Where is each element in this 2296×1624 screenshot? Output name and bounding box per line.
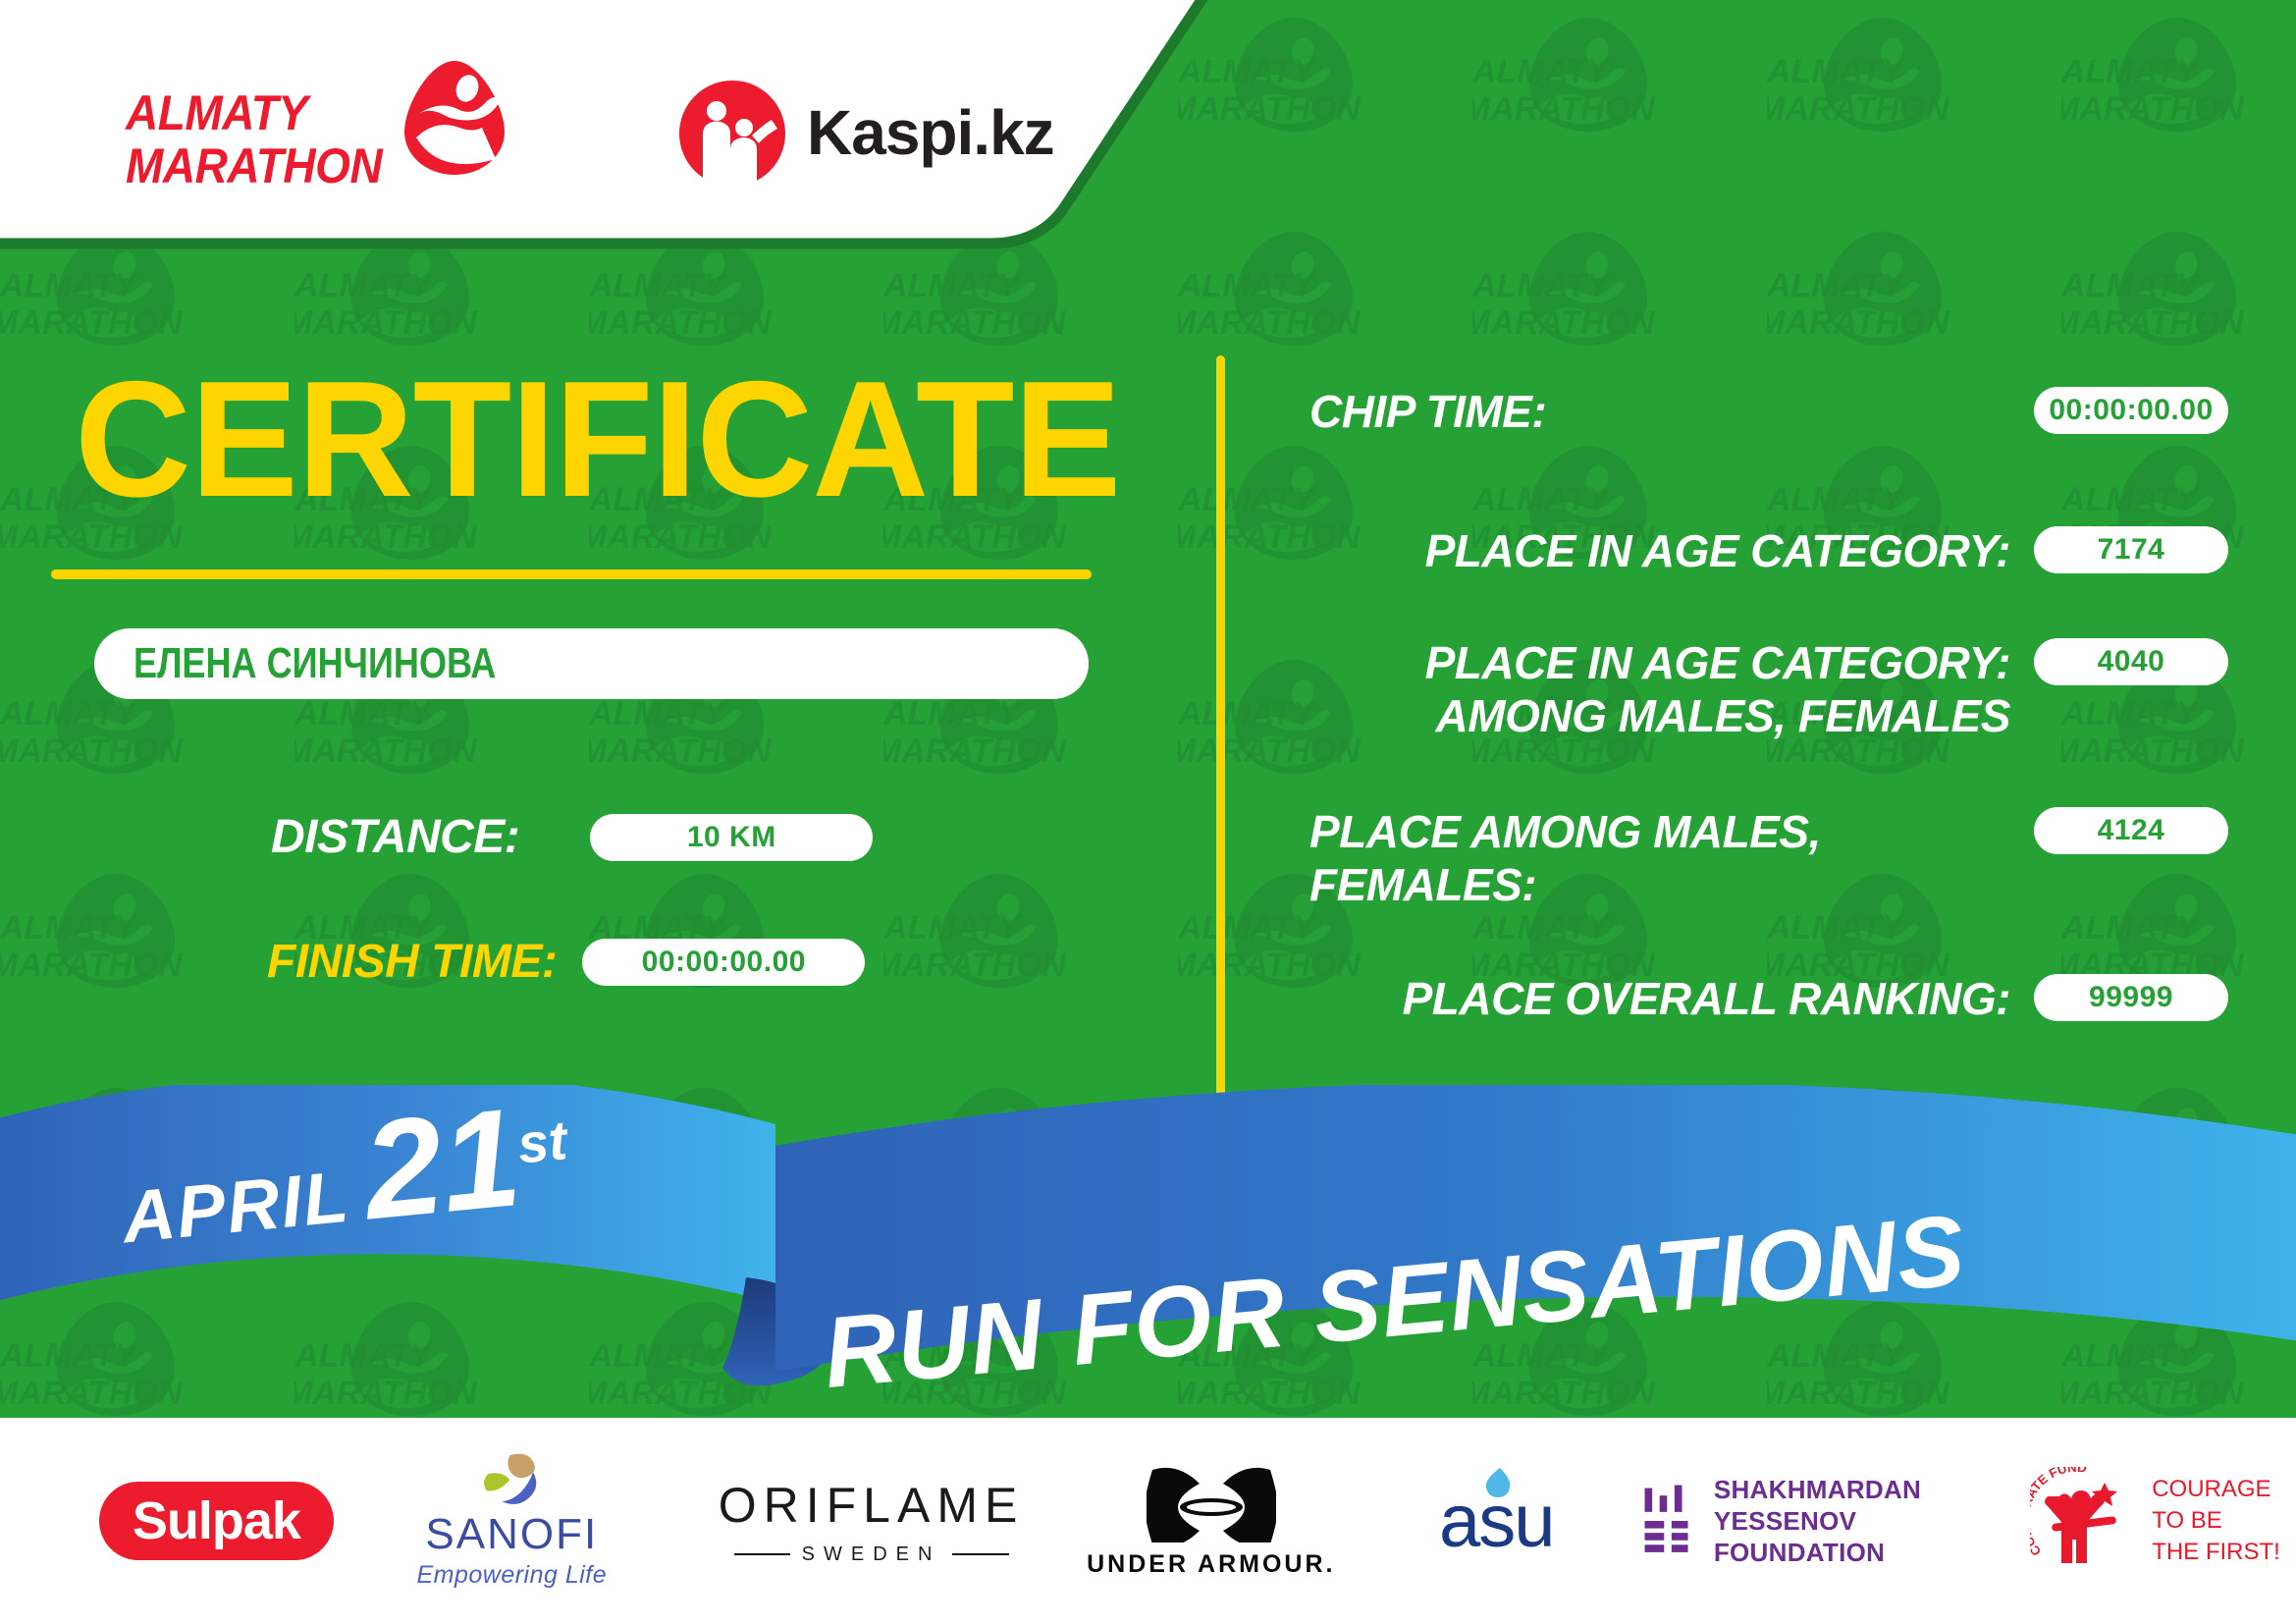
oriflame-sub-wrap: SWEDEN (734, 1543, 1009, 1566)
place-age-category-gender-value: 4040 (2034, 638, 2228, 685)
yessenov-line-2: FOUNDATION (1714, 1537, 1985, 1568)
label-line-1: PLACE IN AGE CATEGORY: (1276, 636, 2010, 689)
certificate-canvas: ALMATY MARATHON ALMATY MARATHON (0, 0, 2296, 1624)
label-line-1: PLACE AMONG MALES, (1309, 805, 2010, 858)
sponsor-sanofi: SANOFI Empowering Life (384, 1452, 640, 1590)
ribbon-day-suffix: st (514, 1108, 569, 1175)
kaspi-logo: Kaspi.kz (677, 79, 1090, 187)
finish-time-label: FINISH TIME: (267, 935, 557, 989)
runner-drop-icon (400, 59, 508, 177)
courage-runner-icon: CORPORATE FUND (2030, 1467, 2138, 1575)
almaty-marathon-logo: ALMATY MARATHON (118, 59, 491, 206)
sanofi-tagline: Empowering Life (416, 1561, 607, 1590)
sponsor-bar: Sulpak SANOFI Empowering Life ORIFLAME S… (0, 1418, 2296, 1624)
header-logo-group: ALMATY MARATHON (0, 0, 1355, 314)
courage-line-2: TO BE (2152, 1505, 2280, 1537)
yessenov-bars-icon (1643, 1474, 1694, 1568)
finish-time-value: 00:00:00.00 (582, 939, 865, 986)
courage-line-1: COURAGE (2152, 1474, 2280, 1505)
place-age-category-label: PLACE IN AGE CATEGORY: (1276, 524, 2034, 577)
page-title: CERTIFICATE (75, 355, 1120, 522)
marathon-word: MARATHON (126, 139, 382, 192)
distance-label: DISTANCE: (271, 810, 519, 864)
place-age-category-gender-label: PLACE IN AGE CATEGORY: AMONG MALES, FEMA… (1276, 636, 2034, 742)
yessenov-line-1: SHAKHMARDAN YESSENOV (1714, 1474, 1985, 1537)
oriflame-rule-left (734, 1553, 790, 1555)
courage-line-3: THE FIRST! (2152, 1537, 2280, 1568)
finish-time-row: FINISH TIME: 00:00:00.00 (267, 935, 865, 989)
sponsor-yessenov-foundation: SHAKHMARDAN YESSENOV FOUNDATION (1643, 1452, 1985, 1590)
asu-logo-text: asu (1439, 1479, 1554, 1564)
oriflame-logo-text: ORIFLAME (719, 1477, 1025, 1534)
kaspi-people-circle-icon (677, 79, 787, 189)
sponsor-asu: asu (1398, 1452, 1594, 1590)
label-line-2: AMONG MALES, FEMALES (1276, 689, 2010, 742)
almaty-marathon-logo-text: ALMATY MARATHON (126, 86, 382, 192)
chip-time-value: 00:00:00.00 (2034, 387, 2228, 434)
distance-value: 10 KM (590, 814, 873, 861)
column-divider (1216, 355, 1225, 1102)
place-age-category-gender-row: PLACE IN AGE CATEGORY: AMONG MALES, FEMA… (1276, 636, 2228, 742)
under-armour-logo-text: UNDER ARMOUR. (1087, 1550, 1335, 1579)
oriflame-rule-right (952, 1553, 1008, 1555)
place-age-category-row: PLACE IN AGE CATEGORY: 7174 (1276, 524, 2228, 577)
courage-logo-text: COURAGE TO BE THE FIRST! (2152, 1474, 2280, 1568)
title-divider-rule (51, 569, 1092, 579)
place-among-gender-row: PLACE AMONG MALES, FEMALES: 4124 (1276, 805, 2228, 911)
participant-name-value: ЕЛЕНА СИНЧИНОВА (133, 639, 496, 688)
participant-name-field: ЕЛЕНА СИНЧИНОВА (94, 628, 1089, 699)
under-armour-mark-icon (1147, 1464, 1276, 1543)
ribbon-day: 21 (360, 1109, 524, 1221)
sponsor-under-armour: UNDER ARMOUR. (1083, 1452, 1339, 1590)
place-among-gender-value: 4124 (2034, 807, 2228, 854)
sanofi-mark-icon (466, 1452, 557, 1506)
place-overall-ranking-value: 99999 (2034, 974, 2228, 1021)
place-overall-ranking-label: PLACE OVERALL RANKING: (1276, 972, 2034, 1025)
place-overall-ranking-row: PLACE OVERALL RANKING: 99999 (1276, 972, 2228, 1025)
kaspi-logo-text: Kaspi.kz (807, 96, 1054, 169)
label-line-2: FEMALES: (1309, 858, 2010, 911)
oriflame-sub-text: SWEDEN (802, 1543, 941, 1566)
sponsor-oriflame: ORIFLAME SWEDEN (719, 1452, 1025, 1590)
yessenov-logo-text: SHAKHMARDAN YESSENOV FOUNDATION (1714, 1474, 1985, 1568)
sponsor-sulpak: Sulpak (88, 1452, 345, 1590)
sanofi-logo-text: SANOFI (425, 1510, 598, 1559)
sulpak-logo-text: Sulpak (99, 1482, 334, 1560)
chip-time-label: CHIP TIME: (1276, 385, 2034, 438)
almaty-word: ALMATY (126, 86, 382, 139)
chip-time-row: CHIP TIME: 00:00:00.00 (1276, 385, 2228, 438)
place-age-category-value: 7174 (2034, 526, 2228, 573)
distance-row: DISTANCE: 10 KM (271, 810, 873, 864)
place-among-gender-label: PLACE AMONG MALES, FEMALES: (1276, 805, 2034, 911)
sponsor-courage-to-be-the-first: CORPORATE FUND COURAGE TO BE THE FIRST! (2014, 1452, 2296, 1590)
